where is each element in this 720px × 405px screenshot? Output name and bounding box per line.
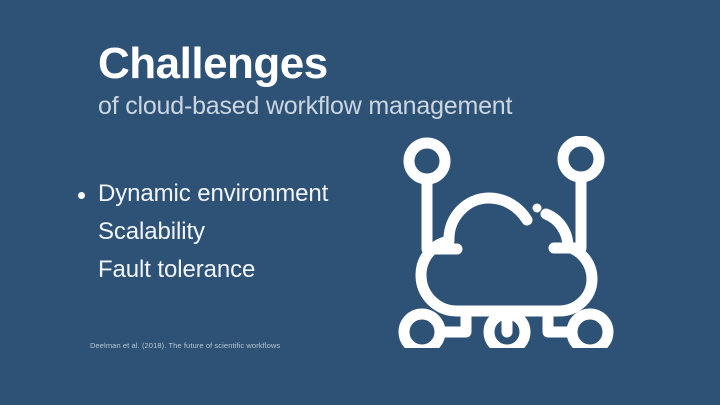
page-title: Challenges: [98, 42, 398, 86]
list-item-label: Scalability: [98, 218, 205, 245]
node-bottom-left-icon: [404, 314, 440, 348]
list-item: Fault tolerance: [78, 258, 328, 296]
list-item-label: Dynamic environment: [98, 180, 328, 207]
slide-canvas: Challenges of cloud-based workflow manag…: [0, 0, 720, 405]
citation-text: Deelman et al. (2018). The future of sci…: [90, 341, 280, 350]
cloud-network-illustration: [396, 136, 624, 348]
bullet-dot-icon: [78, 192, 85, 199]
list-item: Scalability: [78, 220, 328, 258]
page-subtitle: of cloud-based workflow management: [98, 93, 398, 121]
title-block: Challenges of cloud-based workflow manag…: [98, 42, 398, 121]
challenges-list: Dynamic environment Scalability Fault to…: [78, 182, 328, 296]
node-bottom-right-icon: [572, 314, 608, 348]
list-item-label: Fault tolerance: [98, 256, 255, 283]
list-item: Dynamic environment: [78, 182, 328, 220]
cloud-network-icon: [396, 136, 624, 348]
cloud-gap-dot-icon: [533, 204, 542, 213]
